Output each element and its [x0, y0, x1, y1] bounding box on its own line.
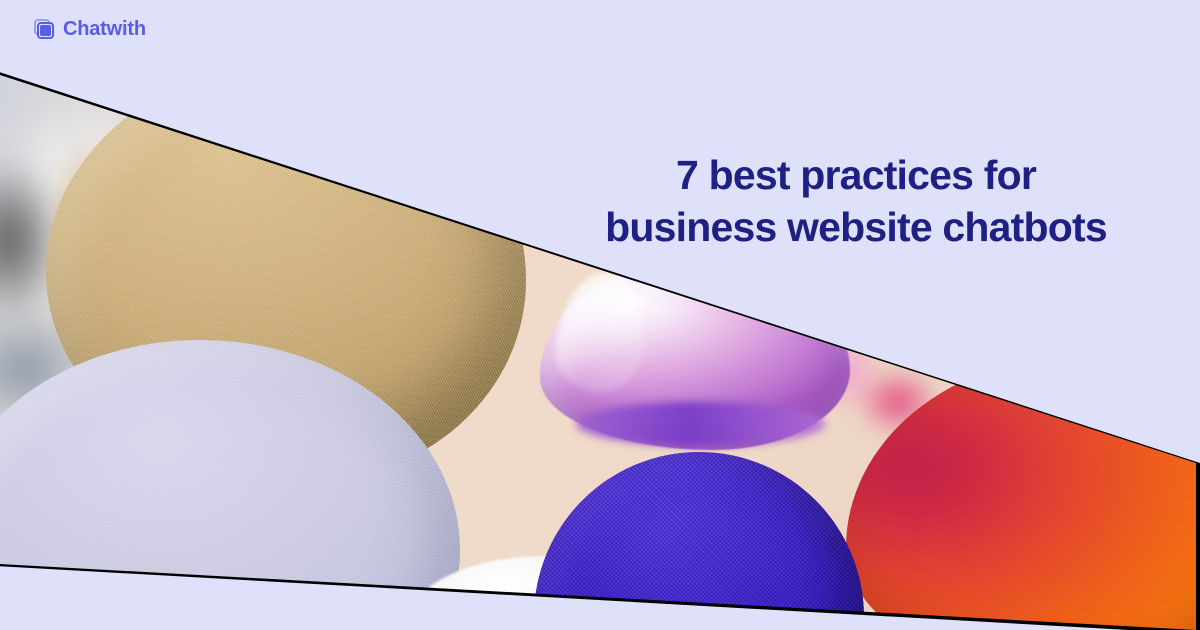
glass-blob-base-shadow: [576, 402, 826, 446]
violet-wisp: [500, 590, 590, 630]
page-title: 7 best practices for business website ch…: [600, 149, 1112, 253]
brand-name: Chatwith: [63, 19, 146, 39]
hero-photo-band: [0, 0, 1200, 630]
tan-fabric-fold: [96, 560, 216, 630]
blog-cover-card: Chatwith 7 best practices for business w…: [0, 0, 1200, 630]
white-cloth-glow: [356, 584, 506, 630]
brand-logo[interactable]: Chatwith: [34, 19, 146, 39]
nested-squares-logo-icon: [34, 19, 54, 39]
hero-photo: [0, 4, 1200, 630]
